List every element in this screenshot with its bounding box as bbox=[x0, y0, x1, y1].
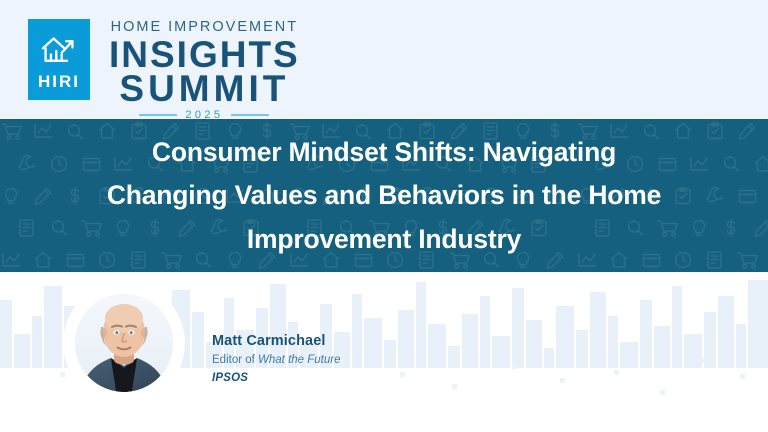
slide-header: HIRI HOME IMPROVEMENT INSIGHTS SUMMIT 20… bbox=[0, 0, 768, 119]
headshot-illustration bbox=[75, 294, 173, 392]
slide-footer: Matt Carmichael Editor of What the Futur… bbox=[0, 272, 768, 432]
hiri-logo-wordmark: HOME IMPROVEMENT INSIGHTS SUMMIT 2025 bbox=[109, 19, 300, 121]
avatar bbox=[75, 294, 173, 392]
hiri-badge-text: HIRI bbox=[38, 73, 80, 90]
speaker-role-publication: What the Future bbox=[258, 354, 340, 366]
logo-word-insights: INSIGHTS bbox=[109, 37, 300, 73]
slide-title: Consumer Mindset Shifts: Navigating Chan… bbox=[0, 119, 768, 272]
speaker-role-prefix: Editor of bbox=[212, 354, 258, 366]
title-band: Consumer Mindset Shifts: Navigating Chan… bbox=[0, 119, 768, 272]
house-growth-chart-icon bbox=[39, 34, 79, 68]
year-rule-right bbox=[231, 114, 269, 116]
presentation-slide: HIRI HOME IMPROVEMENT INSIGHTS SUMMIT 20… bbox=[0, 0, 768, 432]
year-rule-left bbox=[139, 114, 177, 116]
hiri-logo-badge: HIRI bbox=[28, 19, 90, 100]
speaker-name: Matt Carmichael bbox=[212, 332, 341, 350]
title-line-1: Consumer Mindset Shifts: Navigating bbox=[152, 139, 616, 166]
speaker-role: Editor of What the Future bbox=[212, 352, 341, 369]
hiri-logo-lockup: HIRI HOME IMPROVEMENT INSIGHTS SUMMIT 20… bbox=[28, 19, 300, 121]
title-line-2: Changing Values and Behaviors in the Hom… bbox=[107, 182, 661, 209]
speaker-organization: IPSOS bbox=[212, 371, 341, 387]
speaker-info: Matt Carmichael Editor of What the Futur… bbox=[212, 332, 341, 386]
speaker-photo bbox=[75, 294, 173, 392]
title-line-3: Improvement Industry bbox=[247, 226, 521, 253]
logo-word-summit: SUMMIT bbox=[119, 71, 289, 107]
logo-kicker: HOME IMPROVEMENT bbox=[111, 20, 298, 35]
